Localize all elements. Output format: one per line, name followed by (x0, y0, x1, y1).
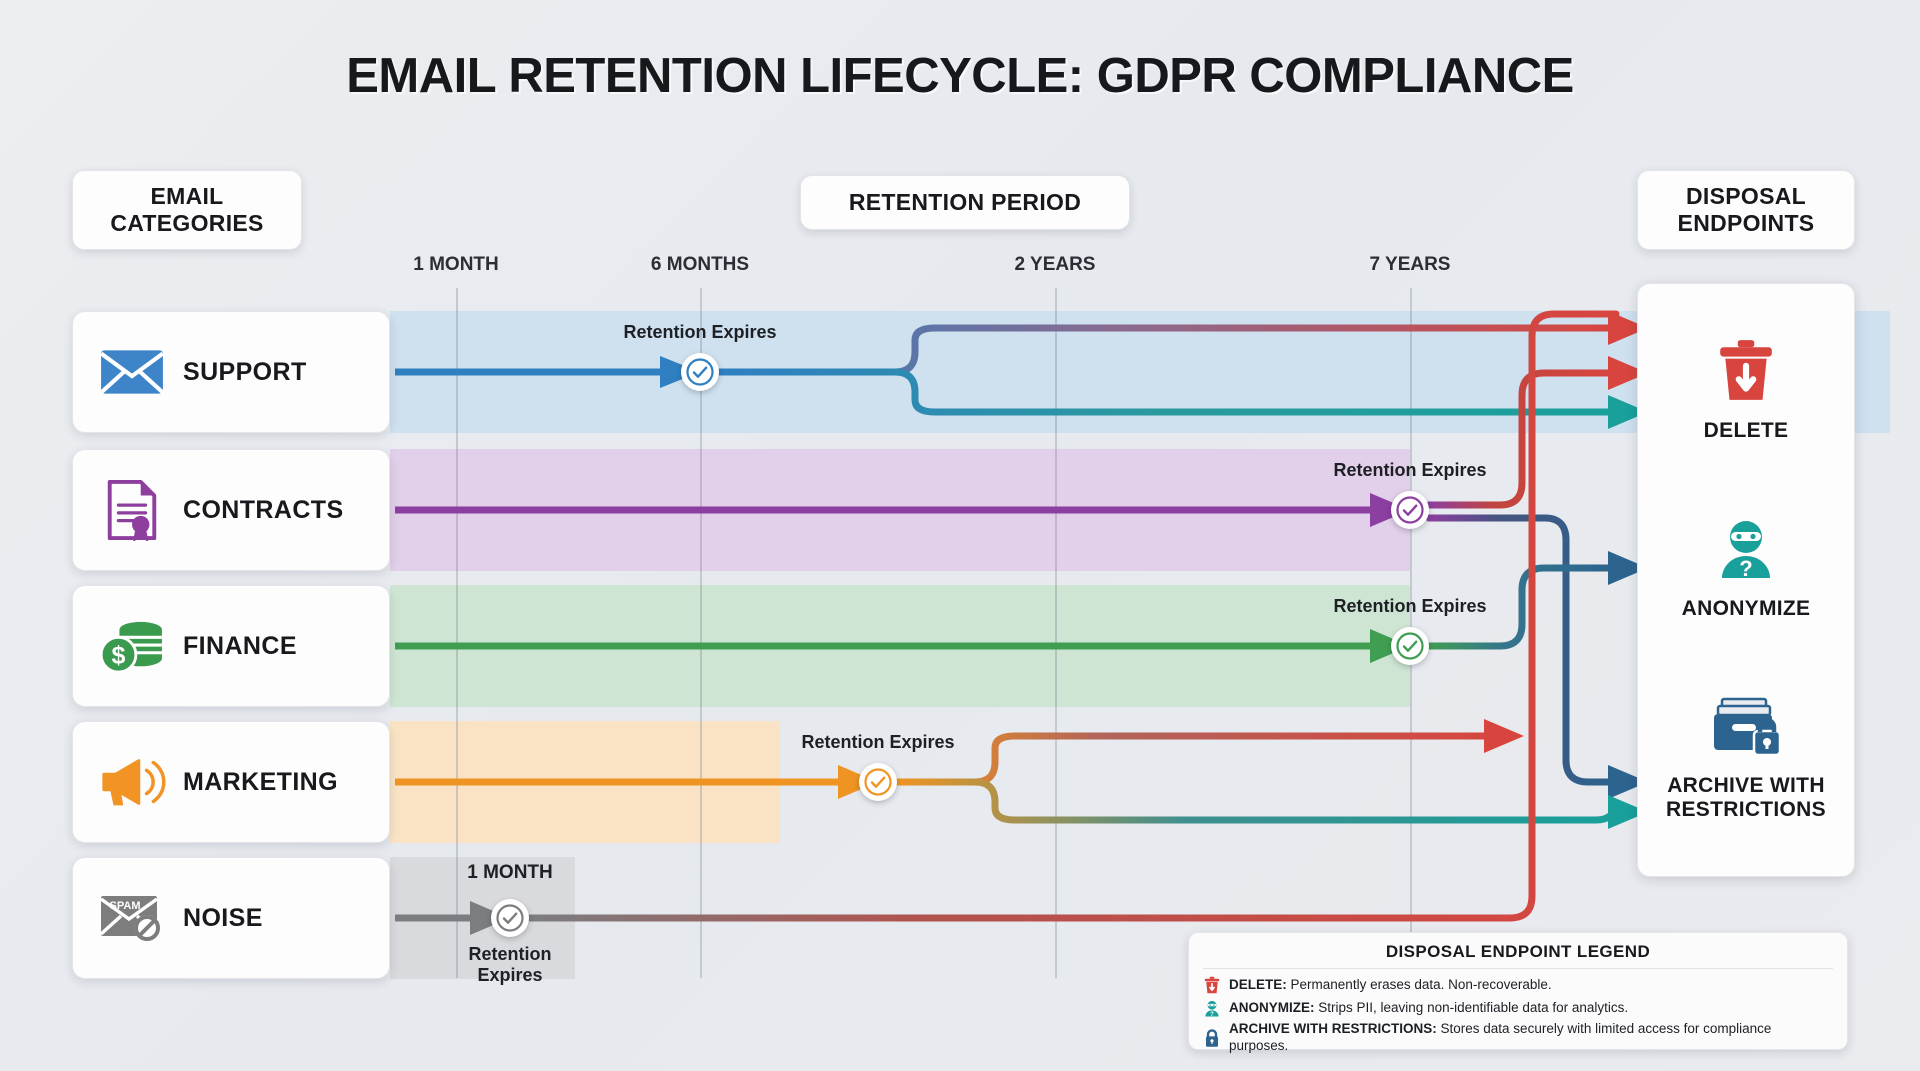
lock-icon (1203, 1028, 1221, 1048)
archive-lock-icon (1710, 697, 1782, 762)
disposal-endpoint-label-anonymize: ANONYMIZE (1682, 597, 1811, 621)
flow-marketing-delete (897, 736, 1492, 782)
legend-rows: DELETE: Permanently erases data. Non-rec… (1203, 975, 1833, 1055)
flow-marketing-anonymize (897, 782, 1616, 820)
disposal-endpoint-archive[interactable]: ARCHIVE WITHRESTRICTIONS (1638, 697, 1854, 823)
legend-item-text-2: ARCHIVE WITH RESTRICTIONS: Stores data s… (1229, 1021, 1833, 1055)
category-card-support[interactable]: SUPPORT (72, 311, 390, 433)
header-categories-line1: EMAIL (110, 183, 263, 210)
expiry-marker-finance[interactable] (1391, 627, 1429, 665)
header-categories-line2: CATEGORIES (110, 210, 263, 237)
disposal-endpoint-label-delete: DELETE (1704, 419, 1789, 443)
disposal-endpoint-label-archive: ARCHIVE WITHRESTRICTIONS (1666, 774, 1826, 823)
infographic-root: EMAIL RETENTION LIFECYCLE: GDPR COMPLIAN… (0, 0, 1920, 1071)
tick-label-0: 1 MONTH (413, 254, 499, 276)
category-label-support: SUPPORT (183, 358, 307, 387)
row-band-contracts (390, 449, 1410, 571)
coins-icon: $ (97, 615, 167, 677)
legend-title: DISPOSAL ENDPOINT LEGEND (1203, 942, 1833, 969)
gridline-2 (1055, 288, 1057, 978)
expiry-marker-contracts[interactable] (1391, 491, 1429, 529)
tick-label-1: 6 MONTHS (651, 254, 749, 276)
svg-text:?: ? (1210, 1011, 1214, 1016)
category-label-contracts: CONTRACTS (183, 496, 344, 525)
row-band-finance (390, 585, 1410, 707)
endpoint-label-line2: RESTRICTIONS (1666, 798, 1826, 821)
header-email-categories: EMAIL CATEGORIES (72, 170, 302, 250)
header-disposal-endpoints: DISPOSAL ENDPOINTS (1637, 170, 1855, 250)
megaphone-icon (97, 751, 167, 813)
envelope-icon (97, 341, 167, 403)
legend-desc-0: Permanently erases data. Non-recoverable… (1291, 977, 1552, 992)
category-card-contracts[interactable]: CONTRACTS (72, 449, 390, 571)
expiry-tick-label-noise: 1 MONTH (467, 862, 553, 884)
legend-desc-1: Strips PII, leaving non-identifiable dat… (1318, 1000, 1628, 1015)
category-card-marketing[interactable]: MARKETING (72, 721, 390, 843)
legend-item-text-1: ANONYMIZE: Strips PII, leaving non-ident… (1229, 1000, 1628, 1017)
header-disposal-line2: ENDPOINTS (1678, 210, 1815, 237)
legend-item-text-0: DELETE: Permanently erases data. Non-rec… (1229, 977, 1552, 994)
tick-label-2: 2 YEARS (1015, 254, 1096, 276)
endpoint-label-line1: ARCHIVE WITH (1667, 774, 1825, 797)
category-card-finance[interactable]: $FINANCE (72, 585, 390, 707)
expiry-label-line1: Retention (469, 944, 552, 964)
svg-text:SPAM: SPAM (110, 900, 141, 912)
expiry-label-marketing: Retention Expires (801, 732, 954, 753)
disposal-endpoints-panel: DELETE?ANONYMIZEARCHIVE WITHRESTRICTIONS (1637, 283, 1855, 877)
legend-item-0: DELETE: Permanently erases data. Non-rec… (1203, 975, 1833, 995)
expiry-marker-noise[interactable] (491, 899, 529, 937)
category-label-noise: NOISE (183, 904, 263, 933)
expiry-label-noise: RetentionExpires (469, 944, 552, 985)
expiry-label-contracts: Retention Expires (1333, 460, 1486, 481)
disposal-endpoint-delete[interactable]: DELETE (1638, 338, 1854, 443)
header-disposal-line1: DISPOSAL (1678, 183, 1815, 210)
legend-term-1: ANONYMIZE: (1229, 1000, 1315, 1015)
expiry-label-line2: Expires (477, 965, 542, 985)
svg-text:?: ? (1739, 556, 1752, 580)
row-band-marketing (390, 721, 780, 843)
legend-item-2: ARCHIVE WITH RESTRICTIONS: Stores data s… (1203, 1021, 1833, 1055)
category-card-noise[interactable]: SPAMNOISE (72, 857, 390, 979)
expiry-label-finance: Retention Expires (1333, 596, 1486, 617)
expiry-marker-marketing[interactable] (859, 763, 897, 801)
flow-contracts-archive (1429, 518, 1616, 782)
spam-envelope-icon: SPAM (97, 887, 167, 949)
tick-label-3: 7 YEARS (1370, 254, 1451, 276)
expiry-marker-support[interactable] (681, 353, 719, 391)
expiry-label-support: Retention Expires (623, 322, 776, 343)
trash-icon (1203, 975, 1221, 995)
category-label-marketing: MARKETING (183, 768, 338, 797)
category-label-finance: FINANCE (183, 632, 297, 661)
masked-person-icon: ? (1203, 998, 1221, 1018)
legend-term-0: DELETE: (1229, 977, 1287, 992)
legend-term-2: ARCHIVE WITH RESTRICTIONS: (1229, 1021, 1437, 1036)
svg-text:$: $ (111, 641, 125, 669)
certificate-icon (97, 479, 167, 541)
page-title: EMAIL RETENTION LIFECYCLE: GDPR COMPLIAN… (0, 48, 1920, 104)
masked-person-icon: ? (1717, 518, 1775, 585)
legend-item-1: ?ANONYMIZE: Strips PII, leaving non-iden… (1203, 998, 1833, 1018)
disposal-endpoint-legend: DISPOSAL ENDPOINT LEGEND DELETE: Permane… (1188, 932, 1848, 1050)
disposal-endpoint-anonymize[interactable]: ?ANONYMIZE (1638, 518, 1854, 621)
gridline-1 (700, 288, 702, 978)
header-retention-period: RETENTION PERIOD (800, 175, 1130, 230)
trash-icon (1717, 338, 1775, 407)
gridline-0 (456, 288, 458, 978)
